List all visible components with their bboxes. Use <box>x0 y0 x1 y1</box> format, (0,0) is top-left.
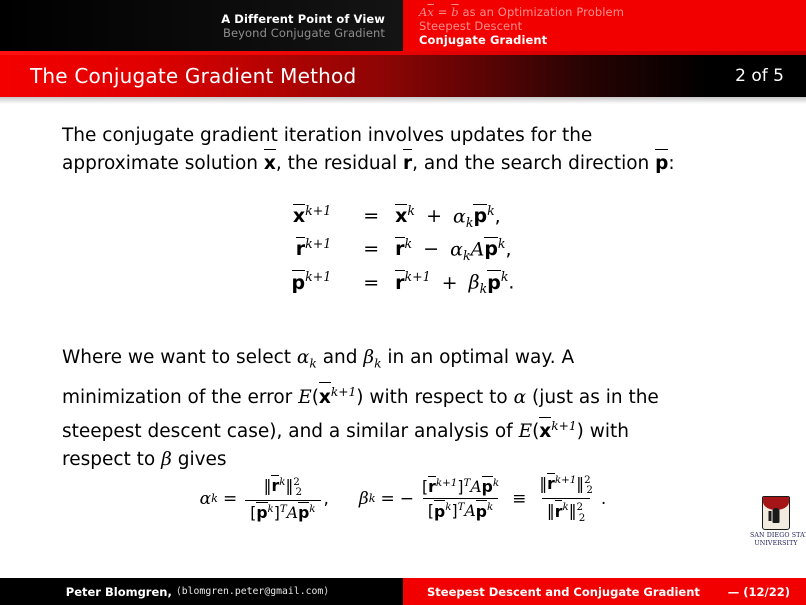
beta-subscript-1: k <box>374 357 381 371</box>
explanation-paragraph: Where we want to select αk and βk in an … <box>62 344 762 474</box>
footer-page-number: — (12/22) <box>728 585 790 599</box>
beta-num-vector-1: r <box>428 477 436 496</box>
nav-item-optimization-problem[interactable]: Ax = b as an Optimization Problem <box>419 5 624 19</box>
sdsu-logo-line-1: SAN DIEGO STATE <box>750 532 802 540</box>
where-line-4-part-b: gives <box>178 449 227 470</box>
footer-author-name: Peter Blomgren, <box>66 585 172 599</box>
equation-row-r-update: rk+1 = rk − αkApk, <box>292 233 515 266</box>
eq2-rhs-exponent-2: k <box>498 236 506 251</box>
nav-item-a-different-point-of-view[interactable]: A Different Point of View <box>221 12 385 26</box>
eq3-tail: . <box>508 272 514 294</box>
eq2-rhs-exponent-1: k <box>405 236 413 251</box>
nav-equals-sign: = <box>438 5 448 19</box>
eq1-alpha: α <box>453 205 466 227</box>
alpha-subscript-1: k <box>309 357 316 371</box>
ratio-den-exponent: k <box>562 501 568 513</box>
where-line-2-part-a: minimization of the error <box>62 387 292 408</box>
where-line-3-part-a: steepest descent case), and a similar an… <box>62 421 513 442</box>
beta-den-exponent-2: k <box>487 501 493 513</box>
top-navigation-bar: A Different Point of View Beyond Conjuga… <box>0 0 806 51</box>
ratio-den-norm-index: 2 <box>579 512 586 524</box>
equation-2-rhs: rk − αkApk, <box>395 233 514 266</box>
beta-den-vector-2: p <box>476 502 487 521</box>
slide-title-bar: The Conjugate Gradient Method 2 of 5 <box>0 55 806 97</box>
eq2-alpha: α <box>450 238 463 260</box>
eq3-rhs-vector-2: p <box>487 272 501 294</box>
eq1-rhs-exponent-1: k <box>407 203 415 218</box>
page-title: The Conjugate Gradient Method <box>30 64 356 88</box>
alpha-symbol-1: α <box>297 347 310 368</box>
eq2-operator: − <box>418 238 444 260</box>
equation-1-rhs: xk + αkpk, <box>395 200 514 233</box>
sdsu-shield-icon <box>762 496 790 530</box>
nav-vector-x: x <box>427 5 434 19</box>
eq2-matrix: A <box>471 238 485 260</box>
ratio-num-exponent: k+1 <box>555 474 576 486</box>
beta-symbol-1: β <box>363 347 374 368</box>
error-arg-exponent-2: k+1 <box>551 419 576 433</box>
title-bar-shadow <box>0 97 806 104</box>
beta-formula-tail: . <box>601 489 606 509</box>
nav-vector-b: b <box>451 5 458 19</box>
nav-item-optimization-problem-text: as an Optimization Problem <box>463 5 625 19</box>
intro-paragraph: The conjugate gradient iteration involve… <box>62 122 762 178</box>
alpha-num-vector: r <box>271 476 279 495</box>
beta-formula-equivalence: ≡ <box>507 489 531 509</box>
footer-separator <box>0 571 806 578</box>
alpha-num-exponent: k <box>279 476 285 488</box>
alpha-denominator: [pk]TApk <box>245 500 320 522</box>
eq3-rhs-vector-1: r <box>395 272 404 294</box>
ratio-num-norm-index: 2 <box>586 484 593 496</box>
beta-formula-subscript: k <box>369 492 376 505</box>
vector-p-inline: p <box>655 150 668 178</box>
alpha-num-norm-index: 2 <box>295 486 302 498</box>
intro-line-2-part-d: : <box>668 153 674 174</box>
equation-row-p-update: pk+1 = rk+1 + βkpk. <box>292 266 515 299</box>
beta-num-exponent-1: k+1 <box>436 477 457 489</box>
beta-formula-equals: = <box>376 489 400 509</box>
beta-num-matrix: A <box>470 477 481 496</box>
eq1-lhs-exponent: k+1 <box>305 203 331 218</box>
where-line-2-part-c: (just as in the <box>532 387 659 408</box>
alpha-den-exponent-1: k <box>268 503 274 515</box>
alpha-formula-symbol: α <box>200 489 211 509</box>
eq1-rhs-vector-1: x <box>395 205 407 227</box>
eq3-lhs-vector: p <box>292 272 306 294</box>
where-line-4-part-a: respect to <box>62 449 155 470</box>
eq2-tail: , <box>506 238 512 260</box>
equation-3-lhs: pk+1 <box>292 266 348 299</box>
beta-den-vector-1: p <box>434 502 445 521</box>
equation-3-rhs: rk+1 + βkpk. <box>395 266 514 299</box>
alpha-den-vector-2: p <box>298 503 309 522</box>
beta-denominator: [pk]TApk <box>423 498 498 520</box>
where-line-1-part-b: and <box>323 347 358 368</box>
residual-ratio-fraction: ‖rk+1‖22 ‖rk‖22 <box>534 474 598 524</box>
alpha-symbol-2: α <box>514 387 527 408</box>
alpha-numerator: ‖rk‖22 <box>259 476 307 500</box>
ratio-den-vector: r <box>555 502 563 521</box>
alpha-formula: αk = ‖rk‖22 [pk]TApk , <box>200 476 329 523</box>
eq3-rhs-exponent-1: k+1 <box>405 269 431 284</box>
beta-num-vector-2: p <box>482 477 493 496</box>
alpha-den-matrix: A <box>287 503 298 522</box>
nav-item-beyond-conjugate-gradient[interactable]: Beyond Conjugate Gradient <box>223 26 385 40</box>
alpha-beta-formula-row: αk = ‖rk‖22 [pk]TApk , βk = − [rk+1]TApk… <box>0 474 806 524</box>
error-arg-vector-1: x <box>319 384 331 412</box>
intro-line-1: The conjugate gradient iteration involve… <box>62 125 592 146</box>
where-line-1-part-c: in an optimal way. A <box>387 347 574 368</box>
slide-footer: Peter Blomgren, ⟨blomgren.peter@gmail.co… <box>0 578 806 605</box>
footer-title-section: Steepest Descent and Conjugate Gradient … <box>403 578 806 605</box>
eq3-operator: + <box>437 272 463 294</box>
equation-1-lhs: xk+1 <box>292 200 348 233</box>
slide-counter: 2 of 5 <box>735 66 784 86</box>
beta-fraction: [rk+1]TApk [pk]TApk <box>417 477 504 520</box>
error-function-E-1: E <box>298 387 312 408</box>
error-arg-vector-2: x <box>539 418 551 446</box>
error-arg-exponent-1: k+1 <box>331 385 356 399</box>
ratio-num-vector: r <box>547 474 555 493</box>
eq2-rhs-vector-2: p <box>484 238 498 260</box>
footer-deck-title: Steepest Descent and Conjugate Gradient <box>427 585 700 599</box>
ratio-denominator: ‖rk‖22 <box>542 498 590 523</box>
iteration-equation-system: xk+1 = xk + αkpk, rk+1 = rk − αkApk, pk+… <box>0 200 806 299</box>
eq2-lhs-exponent: k+1 <box>305 236 331 251</box>
top-nav-right-section: Ax = b as an Optimization Problem Steepe… <box>403 0 806 51</box>
beta-numerator: [rk+1]TApk <box>417 477 504 498</box>
beta-formula: βk = − [rk+1]TApk [pk]TApk ≡ ‖rk+1‖22 ‖r… <box>359 474 606 524</box>
alpha-fraction: ‖rk‖22 [pk]TApk <box>245 476 320 523</box>
footer-author-email[interactable]: ⟨blomgren.peter@gmail.com⟩ <box>176 586 329 597</box>
alpha-den-transpose: T <box>280 503 287 515</box>
eq3-lhs-exponent: k+1 <box>305 269 331 284</box>
eq1-rhs-exponent-2: k <box>487 203 495 218</box>
equation-2-lhs: rk+1 <box>292 233 348 266</box>
eq2-rhs-vector-1: r <box>395 238 404 260</box>
where-line-2-part-b: with respect to <box>369 387 507 408</box>
intro-line-2-part-a: approximate solution <box>62 153 258 174</box>
sdsu-logo: SAN DIEGO STATE UNIVERSITY <box>750 496 802 547</box>
beta-symbol-2: β <box>161 449 172 470</box>
alpha-den-exponent-2: k <box>309 503 315 515</box>
top-nav-left-section: A Different Point of View Beyond Conjuga… <box>0 0 403 51</box>
beta-den-exponent-1: k <box>445 501 451 513</box>
nav-item-conjugate-gradient[interactable]: Conjugate Gradient <box>419 33 547 47</box>
equation-table: xk+1 = xk + αkpk, rk+1 = rk − αkApk, pk+… <box>292 200 515 299</box>
eq3-beta: β <box>469 272 480 294</box>
sdsu-logo-line-2: UNIVERSITY <box>750 540 802 548</box>
shield-figure <box>773 508 780 523</box>
eq1-tail: , <box>495 205 501 227</box>
equation-3-relation: = <box>347 266 395 299</box>
vector-r-inline: r <box>403 150 412 178</box>
slide-content: The conjugate gradient iteration involve… <box>0 104 806 571</box>
alpha-formula-subscript: k <box>211 492 218 505</box>
where-line-1-part-a: Where we want to select <box>62 347 291 368</box>
ratio-numerator: ‖rk+1‖22 <box>534 474 598 498</box>
beta-den-matrix: A <box>464 502 475 521</box>
eq1-rhs-vector-2: p <box>473 205 487 227</box>
intro-line-2-part-c: , and the search direction <box>412 153 649 174</box>
alpha-formula-equals: = <box>218 489 242 509</box>
eq2-alpha-subscript: k <box>463 248 471 263</box>
where-line-3-part-b: with <box>590 421 629 442</box>
eq2-lhs-vector: r <box>296 238 305 260</box>
beta-num-exponent-2: k <box>493 477 499 489</box>
nav-item-steepest-descent[interactable]: Steepest Descent <box>419 19 522 33</box>
equation-2-relation: = <box>347 233 395 266</box>
beta-formula-symbol: β <box>359 489 369 509</box>
eq1-alpha-subscript: k <box>466 215 474 230</box>
intro-line-2-part-b: , the residual <box>276 153 397 174</box>
eq1-lhs-vector: x <box>293 205 305 227</box>
beta-formula-minus: − <box>400 489 414 509</box>
vector-x-inline: x <box>264 150 276 178</box>
equation-1-relation: = <box>347 200 395 233</box>
eq3-beta-subscript: k <box>480 281 488 296</box>
error-function-E-2: E <box>519 421 533 442</box>
alpha-formula-tail: , <box>324 489 329 509</box>
footer-author-section: Peter Blomgren, ⟨blomgren.peter@gmail.co… <box>0 578 403 605</box>
eq1-operator: + <box>421 205 447 227</box>
alpha-den-vector-1: p <box>256 503 267 522</box>
equation-row-x-update: xk+1 = xk + αkpk, <box>292 200 515 233</box>
